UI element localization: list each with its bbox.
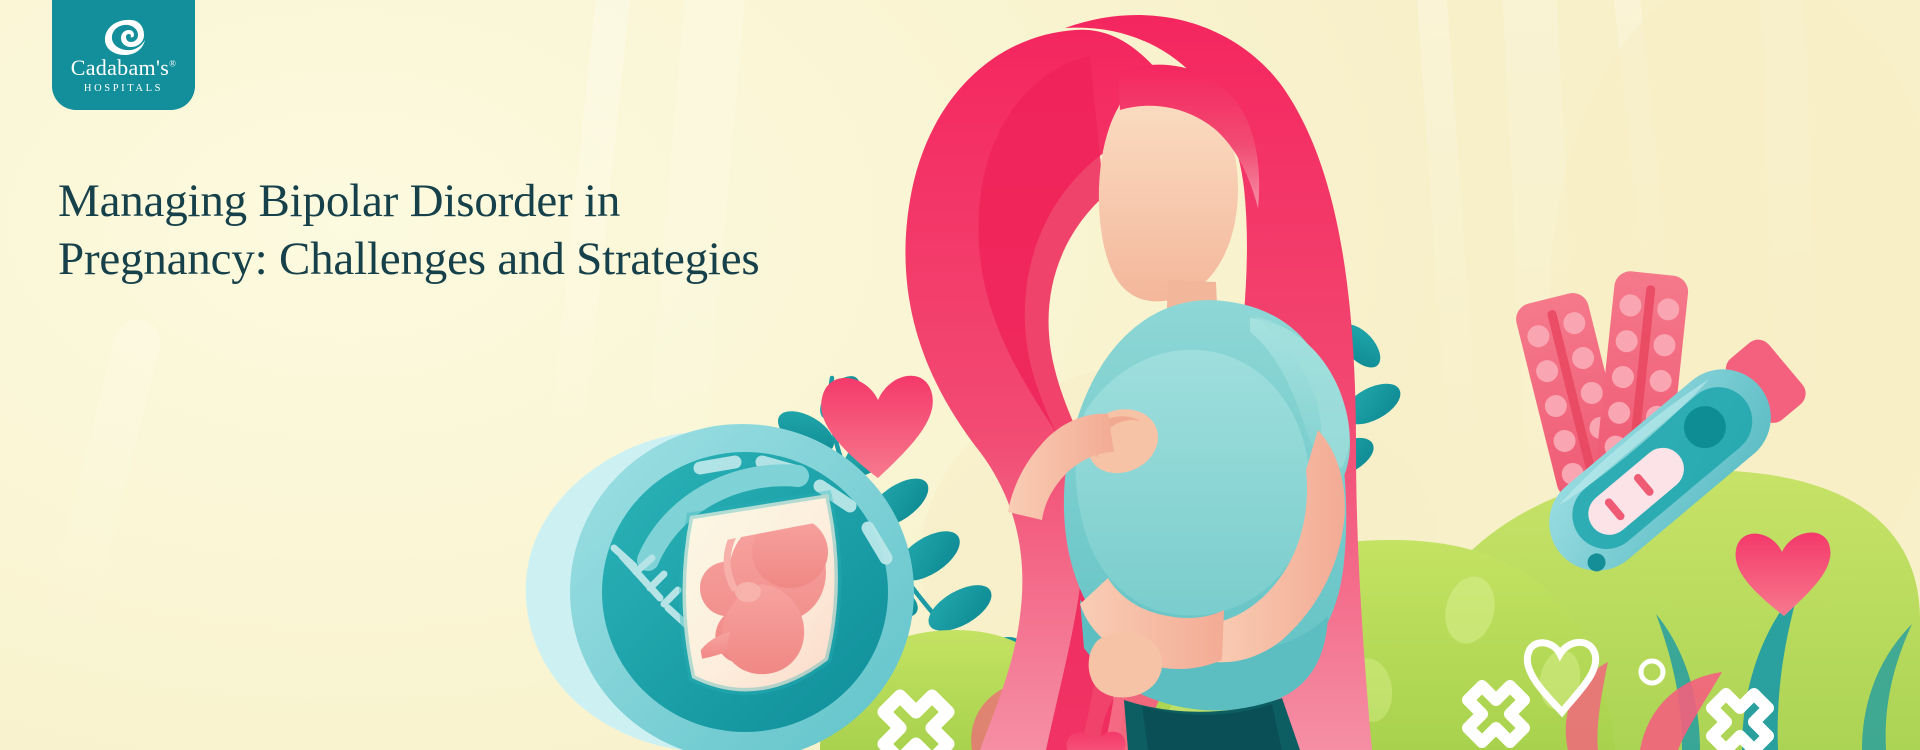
logo-subtitle: HOSPITALS: [84, 83, 163, 94]
article-hero-banner: Cadabam's® HOSPITALS Managing Bipolar Di…: [0, 0, 1920, 750]
ultrasound-scan-badge: [526, 424, 914, 750]
logo-wordmark: Cadabam's®: [71, 57, 176, 79]
cadabams-swirl-icon: [101, 18, 147, 56]
hero-illustration: [0, 0, 1920, 750]
cadabams-logo[interactable]: Cadabam's® HOSPITALS: [52, 0, 195, 110]
registered-mark: ®: [169, 59, 176, 69]
page-title-line-2: Pregnancy: Challenges and Strategies: [58, 230, 878, 288]
page-title-line-1: Managing Bipolar Disorder in: [58, 172, 878, 230]
page-title: Managing Bipolar Disorder in Pregnancy: …: [58, 172, 878, 288]
